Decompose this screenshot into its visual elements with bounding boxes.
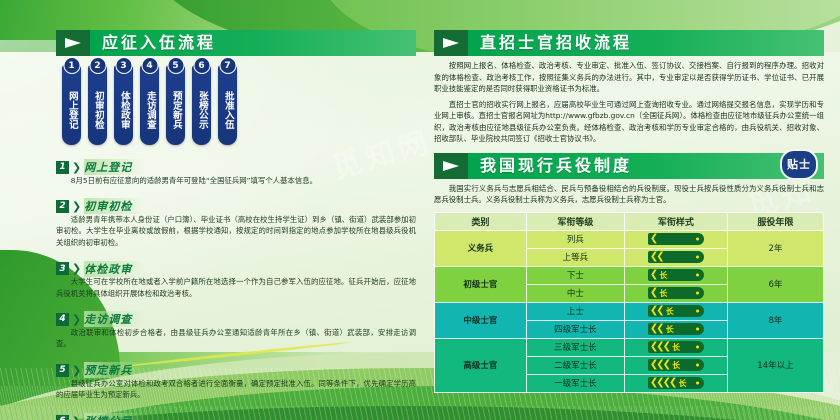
rank-name: 列兵 (526, 230, 624, 248)
rank-insignia-icon: ❮❮⻓ (648, 323, 704, 335)
step-number: 6 (193, 57, 210, 74)
rank-insignia-icon: ❮❮⻓ (648, 305, 704, 317)
list-item: 5 ❯ 预定新兵 县级征兵办公室对体检和政考双合格者进行全面衡量，确定预定批准入… (56, 357, 416, 400)
item-header: 3 ❯ 体检政审 (56, 262, 145, 275)
play-arrow-icon (434, 30, 468, 56)
column-header-service-years: 服役年限 (727, 212, 823, 230)
rank-insignia-cell: ❮❮❮⻓ (625, 356, 728, 374)
recruitment-paragraph: 直招士官的招收实行网上报名，应届高校毕业生可通过网上查询招收专业。通过网络提交报… (434, 99, 824, 145)
item-number: 5 (56, 364, 69, 377)
step-label: 预定新兵 (170, 79, 181, 141)
play-arrow-icon (56, 30, 90, 56)
item-number: 1 (56, 161, 69, 174)
chevron-right-icon: ❯ (72, 416, 81, 420)
item-number: 4 (56, 313, 69, 326)
item-title: 预定新兵 (84, 362, 145, 378)
rank-name: 上等兵 (526, 248, 624, 266)
item-body: 政治联审和体检初步合格者，由县级征兵办公室通知适龄青年所在乡（镇、街道）武装部，… (56, 327, 416, 350)
item-header: 1 ❯ 网上登记 (56, 161, 145, 174)
service-years: 14年以上 (727, 338, 823, 392)
service-system-banner-title: 我国现行兵役制度 (468, 158, 632, 174)
item-title: 初审初检 (84, 198, 145, 214)
service-years: 2年 (727, 230, 823, 266)
list-item: 4 ❯ 走访调查 政治联审和体检初步合格者，由县级征兵办公室通知适龄青年所在乡（… (56, 306, 416, 349)
item-body: 适龄男青年携带本人身份证（户口簿）、毕业证书（高校在校生持学生证）到乡（镇、街道… (56, 214, 416, 248)
step-label: 走访调查 (144, 79, 155, 141)
rank-insignia-cell: ❮❮ (625, 248, 728, 266)
table-row: 义务兵 列兵 ❮ 2年 (435, 230, 824, 248)
rank-insignia-cell: ❮⻓ (625, 284, 728, 302)
rank-insignia-icon: ❮❮❮⻓ (648, 341, 704, 353)
step-number: 5 (167, 57, 184, 74)
item-title: 网上登记 (84, 159, 145, 175)
rank-category: 中级士官 (435, 302, 527, 338)
step-label: 体检政审 (118, 79, 129, 141)
step-number: 3 (115, 57, 132, 74)
table-row: 中级士官 上士 ❮❮⻓ 8年 (435, 302, 824, 320)
rank-name: 一级军士长 (526, 374, 624, 392)
rank-name: 上士 (526, 302, 624, 320)
step-label: 网上登记 (66, 79, 77, 141)
rank-category: 初级士官 (435, 266, 527, 302)
chevron-right-icon: ❯ (72, 314, 81, 325)
rank-insignia-cell: ❮❮❮⻓ (625, 338, 728, 356)
item-body: 县级征兵办公室对体检和政考双合格者进行全面衡量，确定预定批准入伍。同等条件下，优… (56, 378, 416, 401)
item-body: 8月5日前有应征意向的适龄男青年可登陆“全国征兵网”填写个人基本信息。 (56, 175, 416, 186)
table-row: 初级士官 下士 ❮⻓ 6年 (435, 266, 824, 284)
item-number: 2 (56, 200, 69, 213)
step-badge[interactable]: 1 网上登记 (62, 65, 81, 145)
step-badge[interactable]: 2 初审初检 (88, 65, 107, 145)
rank-insignia-icon: ❮⻓ (648, 287, 704, 299)
rank-category: 高级士官 (435, 338, 527, 392)
left-column: 应征入伍流程 1 网上登记 2 初审初检 3 体检政审 4 走访调查 5 预定新… (56, 30, 416, 420)
step-badge[interactable]: 7 批准入伍 (218, 65, 237, 145)
item-title: 体检政审 (84, 261, 145, 277)
item-header: 4 ❯ 走访调查 (56, 313, 145, 326)
list-item: 1 ❯ 网上登记 8月5日前有应征意向的适龄男青年可登陆“全国征兵网”填写个人基… (56, 154, 416, 186)
step-badge[interactable]: 6 张榜公示 (192, 65, 211, 145)
list-item: 2 ❯ 初审初检 适龄男青年携带本人身份证（户口簿）、毕业证书（高校在校生持学生… (56, 193, 416, 248)
rank-name: 二级军士长 (526, 356, 624, 374)
step-number: 4 (141, 57, 158, 74)
military-rank-table: 类别 军衔等级 军衔样式 服役年限 义务兵 列兵 ❮ 2年 (434, 212, 824, 393)
item-title: 张榜公示 (84, 413, 145, 420)
service-years: 6年 (727, 266, 823, 302)
right-column: 直招士官招收流程 按照网上报名、体格检查、政治考核、专业审定、批准入伍、签订协议… (434, 30, 824, 393)
tips-badge: 贴士 (780, 149, 818, 180)
rank-insignia-icon: ❮❮❮❮⻓ (648, 377, 704, 389)
rank-name: 四级军士长 (526, 320, 624, 338)
item-header: 2 ❯ 初审初检 (56, 200, 145, 213)
list-item: 6 ❯ 张榜公示 对预定新兵名单将在县（市、区）、乡（镇、街道）张榜公示，接受群… (56, 408, 416, 420)
step-badge[interactable]: 3 体检政审 (114, 65, 133, 145)
chevron-right-icon: ❯ (72, 263, 81, 274)
step-number: 2 (89, 57, 106, 74)
step-label: 初审初检 (92, 79, 103, 141)
step-badge[interactable]: 4 走访调查 (140, 65, 159, 145)
left-banner-title: 应征入伍流程 (90, 35, 216, 51)
step-badge[interactable]: 5 预定新兵 (166, 65, 185, 145)
rank-insignia-icon: ❮ (648, 233, 704, 245)
step-label: 批准入伍 (222, 79, 233, 141)
play-arrow-icon (434, 153, 468, 179)
item-header: 5 ❯ 预定新兵 (56, 364, 145, 377)
table-row: 高级士官 三级军士长 ❮❮❮⻓ 14年以上 (435, 338, 824, 356)
poster-canvas: 觅知网 觅知网 应征入伍流程 1 网上登记 2 初审初检 3 体检政审 4 (0, 0, 840, 420)
item-number: 3 (56, 262, 69, 275)
rank-name: 三级军士长 (526, 338, 624, 356)
chevron-right-icon: ❯ (72, 162, 81, 173)
enlistment-step-badges: 1 网上登记 2 初审初检 3 体检政审 4 走访调查 5 预定新兵 6 张榜公… (62, 65, 416, 145)
service-years: 8年 (727, 302, 823, 338)
enlistment-detail-list: 1 ❯ 网上登记 8月5日前有应征意向的适龄男青年可登陆“全国征兵网”填写个人基… (56, 154, 416, 420)
chevron-right-icon: ❯ (72, 201, 81, 212)
rank-insignia-icon: ❮❮❮⻓ (648, 359, 704, 371)
rank-insignia-cell: ❮❮❮❮⻓ (625, 374, 728, 392)
recruitment-paragraph: 按照网上报名、体格检查、政治考核、专业审定、批准入伍、签订协议、交接档案、自行报… (434, 60, 824, 95)
rank-category: 义务兵 (435, 230, 527, 266)
item-number: 6 (56, 415, 69, 420)
item-header: 6 ❯ 张榜公示 (56, 415, 145, 420)
item-body: 大学生可在学校所在地或者入学前户籍所在地选择一个作为自己参军入伍的应征地。征兵开… (56, 276, 416, 299)
column-header-rank-level: 军衔等级 (526, 212, 624, 230)
table-header-row: 类别 军衔等级 军衔样式 服役年限 (435, 212, 824, 230)
rank-insignia-cell: ❮ (625, 230, 728, 248)
rank-name: 中士 (526, 284, 624, 302)
list-item: 3 ❯ 体检政审 大学生可在学校所在地或者入学前户籍所在地选择一个作为自己参军入… (56, 256, 416, 299)
rank-insignia-cell: ❮⻓ (625, 266, 728, 284)
item-title: 走访调查 (84, 311, 145, 327)
rank-insignia-cell: ❮❮⻓ (625, 320, 728, 338)
column-header-rank-insignia: 军衔样式 (625, 212, 728, 230)
chevron-right-icon: ❯ (72, 365, 81, 376)
rank-insignia-icon: ❮❮ (648, 251, 704, 263)
rank-insignia-cell: ❮❮⻓ (625, 302, 728, 320)
right-section-banner-recruitment: 直招士官招收流程 (434, 30, 824, 56)
right-section-banner-service-system: 我国现行兵役制度 贴士 (434, 153, 824, 179)
service-system-intro: 我国实行义务兵与志愿兵相结合、民兵与预备役相结合的兵役制度。现役士兵按兵役性质分… (434, 183, 824, 206)
step-number: 7 (219, 57, 236, 74)
rank-name: 下士 (526, 266, 624, 284)
left-section-banner: 应征入伍流程 (56, 30, 416, 56)
recruitment-banner-title: 直招士官招收流程 (468, 35, 632, 51)
step-label: 张榜公示 (196, 79, 207, 141)
rank-insignia-icon: ❮⻓ (648, 269, 704, 281)
step-number: 1 (63, 57, 80, 74)
column-header-category: 类别 (435, 212, 527, 230)
